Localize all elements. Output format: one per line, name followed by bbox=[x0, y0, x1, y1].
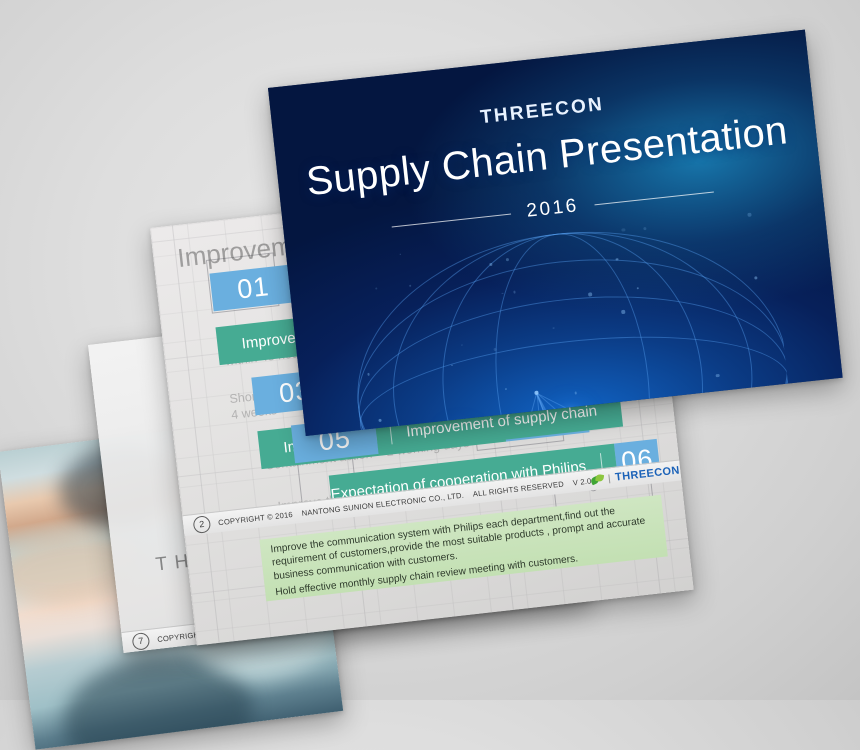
leaf-icon bbox=[591, 473, 605, 485]
globe-sparkle bbox=[375, 287, 377, 289]
globe-sparkle bbox=[718, 424, 721, 427]
globe-sparkle bbox=[723, 417, 726, 420]
globe-sparkle bbox=[776, 398, 780, 402]
divider bbox=[595, 191, 714, 205]
globe-sparkle bbox=[506, 258, 509, 261]
globe-sparkle bbox=[643, 227, 646, 230]
globe-link bbox=[688, 433, 697, 436]
divider bbox=[391, 213, 510, 227]
globe-node bbox=[693, 433, 695, 435]
globe-link bbox=[694, 434, 766, 436]
slide-thumbnail-title[interactable]: THREECON Supply Chain Presentation 2016 bbox=[268, 30, 843, 436]
globe-sparkle bbox=[513, 291, 516, 294]
globe-network-graphic bbox=[342, 211, 802, 436]
globe-node bbox=[535, 391, 539, 395]
globe-sparkle bbox=[489, 263, 492, 266]
globe-sparkle bbox=[637, 287, 639, 289]
globe-sparkle bbox=[622, 310, 626, 314]
divider bbox=[609, 474, 611, 483]
globe-sparkle bbox=[409, 285, 411, 287]
globe-sparkle bbox=[754, 276, 758, 280]
globe-sparkle bbox=[622, 228, 626, 232]
brand-wordmark: THREECON bbox=[615, 464, 681, 483]
slide-stack: THANK YOU FOR YOUR ATTENTION 7 COPYRIGHT… bbox=[0, 0, 860, 700]
globe-sparkle bbox=[588, 292, 592, 296]
globe-node bbox=[687, 430, 691, 434]
page-number: 7 bbox=[131, 631, 150, 650]
presentation-year: 2016 bbox=[526, 195, 580, 223]
globe-sparkle bbox=[748, 213, 752, 217]
globe-sparkle bbox=[399, 253, 401, 255]
page-number: 2 bbox=[192, 515, 211, 534]
